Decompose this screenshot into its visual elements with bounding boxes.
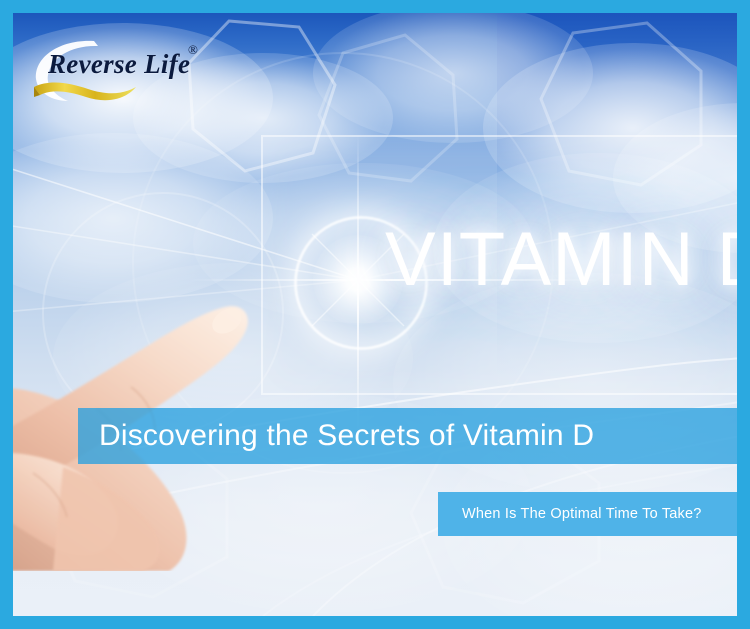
light-streak <box>13 163 358 280</box>
index-finger <box>13 306 248 492</box>
knuckle-crease <box>33 473 67 517</box>
article-title-text: Discovering the Secrets of Vitamin D <box>99 419 594 453</box>
logo-brand-text: Reverse Life <box>48 49 190 80</box>
light-glow-core <box>313 235 403 325</box>
pointing-hand-illustration <box>13 241 323 571</box>
cloud-shape <box>483 43 737 213</box>
thumb <box>13 452 118 555</box>
glass-panel-frame <box>261 135 737 395</box>
glow-crosshair-horizontal <box>188 279 608 281</box>
article-subtitle-text: When Is The Optimal Time To Take? <box>462 506 702 522</box>
cloud-shape <box>193 163 533 323</box>
logo-ribbon <box>34 83 136 101</box>
heptagon-outline <box>319 35 457 181</box>
cloud-shape <box>313 13 593 143</box>
light-streak <box>13 223 358 280</box>
knuckles <box>53 467 160 571</box>
article-subtitle-bar: When Is The Optimal Time To Take? <box>438 492 737 536</box>
vitamin-d-screen-text: VITAMIN D <box>385 216 737 303</box>
cloud-shape <box>13 133 273 303</box>
fingernail <box>208 303 247 339</box>
logo-registered-icon: ® <box>188 42 198 58</box>
cloud-shape <box>433 153 737 343</box>
reverse-life-logo[interactable]: Reverse Life ® <box>26 31 211 103</box>
cloud-shape <box>613 103 737 253</box>
vitamin-d-article-banner: VITAMIN D Reverse Life ® <box>0 0 750 629</box>
light-curve <box>263 465 737 616</box>
light-streak <box>358 199 737 280</box>
light-streak <box>13 280 358 313</box>
article-title-bar: Discovering the Secrets of Vitamin D <box>78 408 737 464</box>
heptagon-outline <box>541 23 701 185</box>
light-glow-ring <box>294 216 428 350</box>
glow-spokes <box>294 216 422 344</box>
hero-image-stage: VITAMIN D Reverse Life ® <box>13 13 737 616</box>
lens-flare-arc <box>43 193 283 433</box>
